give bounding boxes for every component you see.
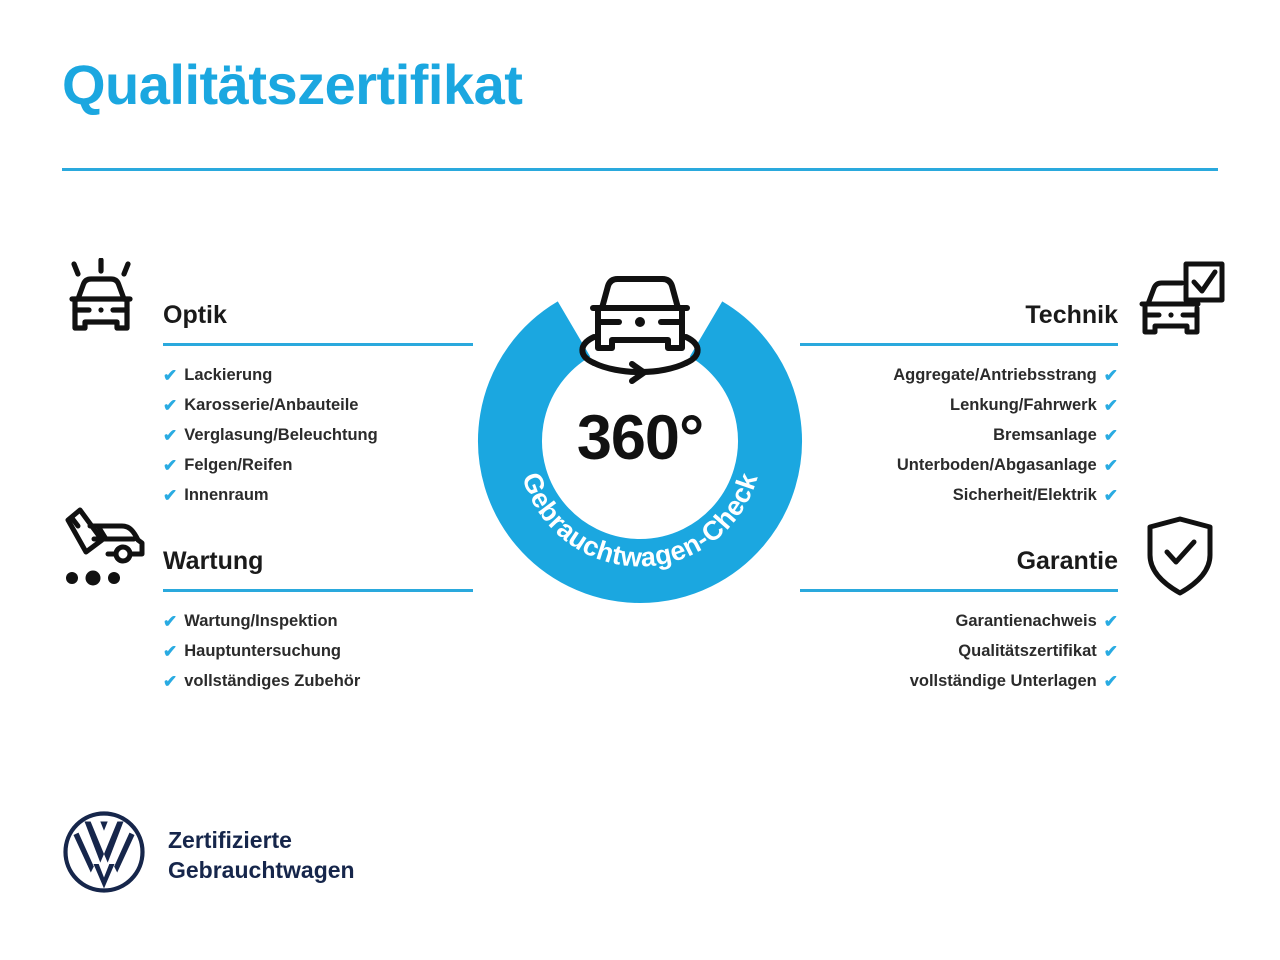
list-item-label: Innenraum xyxy=(184,480,268,510)
list-item-label: vollständige Unterlagen xyxy=(910,666,1097,696)
list-item-label: Qualitätszertifikat xyxy=(958,636,1096,666)
list-item: ✔Bremsanlage xyxy=(800,420,1118,450)
list-item-label: Lackierung xyxy=(184,360,272,390)
check-icon: ✔ xyxy=(163,643,177,660)
section-technik: Technik ✔Aggregate/Antriebsstrang ✔Lenku… xyxy=(800,300,1118,510)
check-icon: ✔ xyxy=(1104,487,1118,504)
check-icon: ✔ xyxy=(163,673,177,690)
list-item: ✔Aggregate/Antriebsstrang xyxy=(800,360,1118,390)
gebrauchtwagen-check-badge: Gebrauchtwagen-Check 360° xyxy=(466,252,814,632)
list-item-label: Felgen/Reifen xyxy=(184,450,292,480)
section-garantie: Garantie ✔Garantienachweis ✔Qualitätszer… xyxy=(800,546,1118,696)
section-title: Wartung xyxy=(163,546,473,576)
checklist: ✔Lackierung ✔Karosserie/Anbauteile ✔Verg… xyxy=(163,360,473,510)
section-header: Wartung xyxy=(163,546,473,592)
list-item: ✔Verglasung/Beleuchtung xyxy=(163,420,473,450)
list-item: ✔Hauptuntersuchung xyxy=(163,636,473,666)
list-item-label: Hauptuntersuchung xyxy=(184,636,341,666)
section-divider xyxy=(800,343,1118,346)
car-front-shine-icon xyxy=(58,258,144,349)
list-item-label: Unterboden/Abgasanlage xyxy=(897,450,1097,480)
check-icon: ✔ xyxy=(1104,613,1118,630)
check-icon: ✔ xyxy=(1104,397,1118,414)
check-icon: ✔ xyxy=(163,487,177,504)
list-item: ✔Innenraum xyxy=(163,480,473,510)
list-item-label: Lenkung/Fahrwerk xyxy=(950,390,1097,420)
check-icon: ✔ xyxy=(1104,457,1118,474)
list-item-label: Verglasung/Beleuchtung xyxy=(184,420,377,450)
section-header: Optik xyxy=(163,300,473,346)
check-icon: ✔ xyxy=(1104,367,1118,384)
list-item-label: Sicherheit/Elektrik xyxy=(953,480,1097,510)
section-divider xyxy=(163,589,473,592)
list-item: ✔vollständiges Zubehör xyxy=(163,666,473,696)
list-item: ✔vollständige Unterlagen xyxy=(800,666,1118,696)
check-icon: ✔ xyxy=(163,457,177,474)
section-wartung: Wartung ✔Wartung/Inspektion ✔Hauptunters… xyxy=(163,546,473,696)
list-item: ✔Sicherheit/Elektrik xyxy=(800,480,1118,510)
list-item-label: Wartung/Inspektion xyxy=(184,606,337,636)
check-icon: ✔ xyxy=(163,427,177,444)
check-icon: ✔ xyxy=(163,613,177,630)
footer-brand: Zertifizierte Gebrauchtwagen xyxy=(62,810,355,899)
check-icon: ✔ xyxy=(163,367,177,384)
badge-value: 360° xyxy=(466,402,814,474)
checklist: ✔Garantienachweis ✔Qualitätszertifikat ✔… xyxy=(800,606,1118,696)
list-item: ✔Karosserie/Anbauteile xyxy=(163,390,473,420)
list-item-label: Karosserie/Anbauteile xyxy=(184,390,358,420)
list-item: ✔Unterboden/Abgasanlage xyxy=(800,450,1118,480)
section-title: Garantie xyxy=(800,546,1118,576)
check-icon: ✔ xyxy=(1104,643,1118,660)
checklist: ✔Aggregate/Antriebsstrang ✔Lenkung/Fahrw… xyxy=(800,360,1118,510)
section-title: Technik xyxy=(800,300,1118,330)
pen-car-service-icon xyxy=(58,506,150,599)
list-item-label: Bremsanlage xyxy=(993,420,1097,450)
section-header: Technik xyxy=(800,300,1118,346)
list-item-label: vollständiges Zubehör xyxy=(184,666,360,696)
check-icon: ✔ xyxy=(1104,673,1118,690)
section-divider xyxy=(800,589,1118,592)
title-divider xyxy=(62,168,1218,171)
list-item: ✔Qualitätszertifikat xyxy=(800,636,1118,666)
section-title: Optik xyxy=(163,300,473,330)
list-item: ✔Lenkung/Fahrwerk xyxy=(800,390,1118,420)
volkswagen-logo-icon xyxy=(62,810,146,899)
page-title: Qualitätszertifikat xyxy=(62,56,522,115)
list-item: ✔Garantienachweis xyxy=(800,606,1118,636)
check-icon: ✔ xyxy=(163,397,177,414)
section-header: Garantie xyxy=(800,546,1118,592)
check-icon: ✔ xyxy=(1104,427,1118,444)
car-checkbox-icon xyxy=(1134,258,1226,351)
shield-check-icon xyxy=(1140,514,1220,603)
list-item: ✔Felgen/Reifen xyxy=(163,450,473,480)
footer-brand-text: Zertifizierte Gebrauchtwagen xyxy=(168,825,355,885)
checklist: ✔Wartung/Inspektion ✔Hauptuntersuchung ✔… xyxy=(163,606,473,696)
list-item-label: Garantienachweis xyxy=(956,606,1097,636)
list-item: ✔Lackierung xyxy=(163,360,473,390)
list-item: ✔Wartung/Inspektion xyxy=(163,606,473,636)
section-optik: Optik ✔Lackierung ✔Karosserie/Anbauteile… xyxy=(163,300,473,510)
list-item-label: Aggregate/Antriebsstrang xyxy=(893,360,1097,390)
section-divider xyxy=(163,343,473,346)
